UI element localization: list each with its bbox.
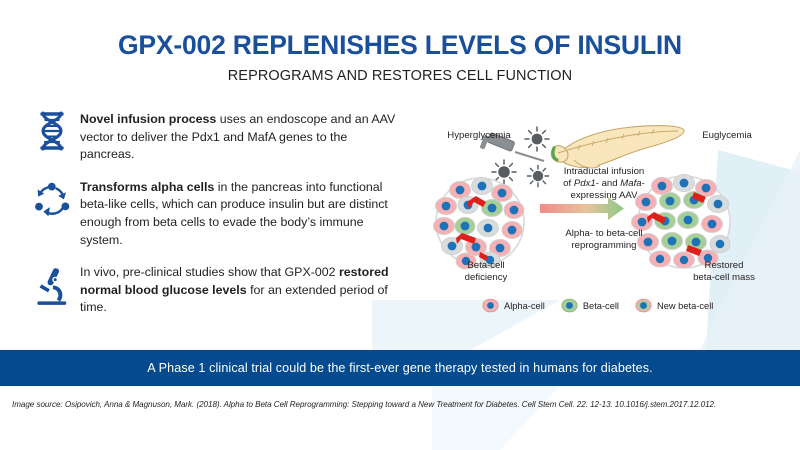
list-item: Transforms alpha cells in the pancreas i… xyxy=(24,178,424,249)
reprog-line2: reprogramming xyxy=(571,240,636,251)
list-item: In vivo, pre-clinical studies show that … xyxy=(24,263,424,317)
list-item-lead: In vivo, pre-clinical studies show that … xyxy=(80,265,339,279)
label-beta-cell-deficiency: Beta-cell deficiency xyxy=(438,260,534,284)
islet-hyperglycemia xyxy=(434,178,525,270)
callout-banner: A Phase 1 clinical trial could be the fi… xyxy=(0,350,800,386)
dna-helix-icon xyxy=(24,110,80,156)
list-item-lead: Transforms alpha cells xyxy=(80,180,214,194)
infusion-line1: Intraductal infusion xyxy=(564,166,645,177)
infusion-line2-post: - xyxy=(642,178,645,189)
list-item-text: Transforms alpha cells in the pancreas i… xyxy=(80,178,400,249)
banner-text: A Phase 1 clinical trial could be the fi… xyxy=(147,361,653,375)
cycle-arrows-icon xyxy=(24,178,80,220)
bullet-list: Novel infusion process uses an endoscope… xyxy=(24,110,424,331)
list-item-text: Novel infusion process uses an endoscope… xyxy=(80,110,400,164)
page-title: GPX-002 REPLENISHES LEVELS OF INSULIN xyxy=(0,30,800,61)
legend-label: Alpha-cell xyxy=(504,301,545,311)
reprog-line1: Alpha- to beta-cell xyxy=(565,228,642,239)
image-source-citation: Image source: Osipovich, Anna & Magnuson… xyxy=(12,400,794,409)
list-item-lead: Novel infusion process xyxy=(80,112,216,126)
beta-cell-swatch-icon xyxy=(561,298,578,313)
legend-item-beta-cell: Beta-cell xyxy=(561,298,619,313)
gene-pdx1: Pdx1 xyxy=(574,178,596,189)
gene-mafa: Mafa xyxy=(620,178,641,189)
legend-label: Beta-cell xyxy=(583,301,619,311)
microscope-icon xyxy=(24,263,80,307)
infusion-line2-pre: of xyxy=(563,178,574,189)
legend: Alpha-cell Beta-cell New beta-cell xyxy=(482,298,750,313)
label-reprogramming: Alpha- to beta-cell reprogramming xyxy=(542,228,666,252)
label-intraductal-infusion: Intraductal infusion of Pdx1- and Mafa- … xyxy=(540,166,668,202)
new-beta-cell-swatch-icon xyxy=(635,298,652,313)
label-euglycemia: Euglycemia xyxy=(684,130,770,142)
infographic-page: GPX-002 REPLENISHES LEVELS OF INSULIN RE… xyxy=(0,0,800,450)
infusion-line3: expressing AAV xyxy=(570,190,637,201)
label-hyperglycemia: Hyperglycemia xyxy=(436,130,522,142)
list-item-text: In vivo, pre-clinical studies show that … xyxy=(80,263,400,317)
pancreas-illustration xyxy=(551,126,684,168)
legend-item-new-beta-cell: New beta-cell xyxy=(635,298,713,313)
label-restored-beta-cell-mass: Restored beta-cell mass xyxy=(672,260,776,284)
diagram-figure: Hyperglycemia Euglycemia Intraductal inf… xyxy=(432,100,784,338)
list-item: Novel infusion process uses an endoscope… xyxy=(24,110,424,164)
legend-item-alpha-cell: Alpha-cell xyxy=(482,298,545,313)
alpha-cell-swatch-icon xyxy=(482,298,499,313)
page-subtitle: REPROGRAMS AND RESTORES CELL FUNCTION xyxy=(0,68,800,84)
legend-label: New beta-cell xyxy=(657,301,713,311)
infusion-line2-mid: - and xyxy=(596,178,621,189)
